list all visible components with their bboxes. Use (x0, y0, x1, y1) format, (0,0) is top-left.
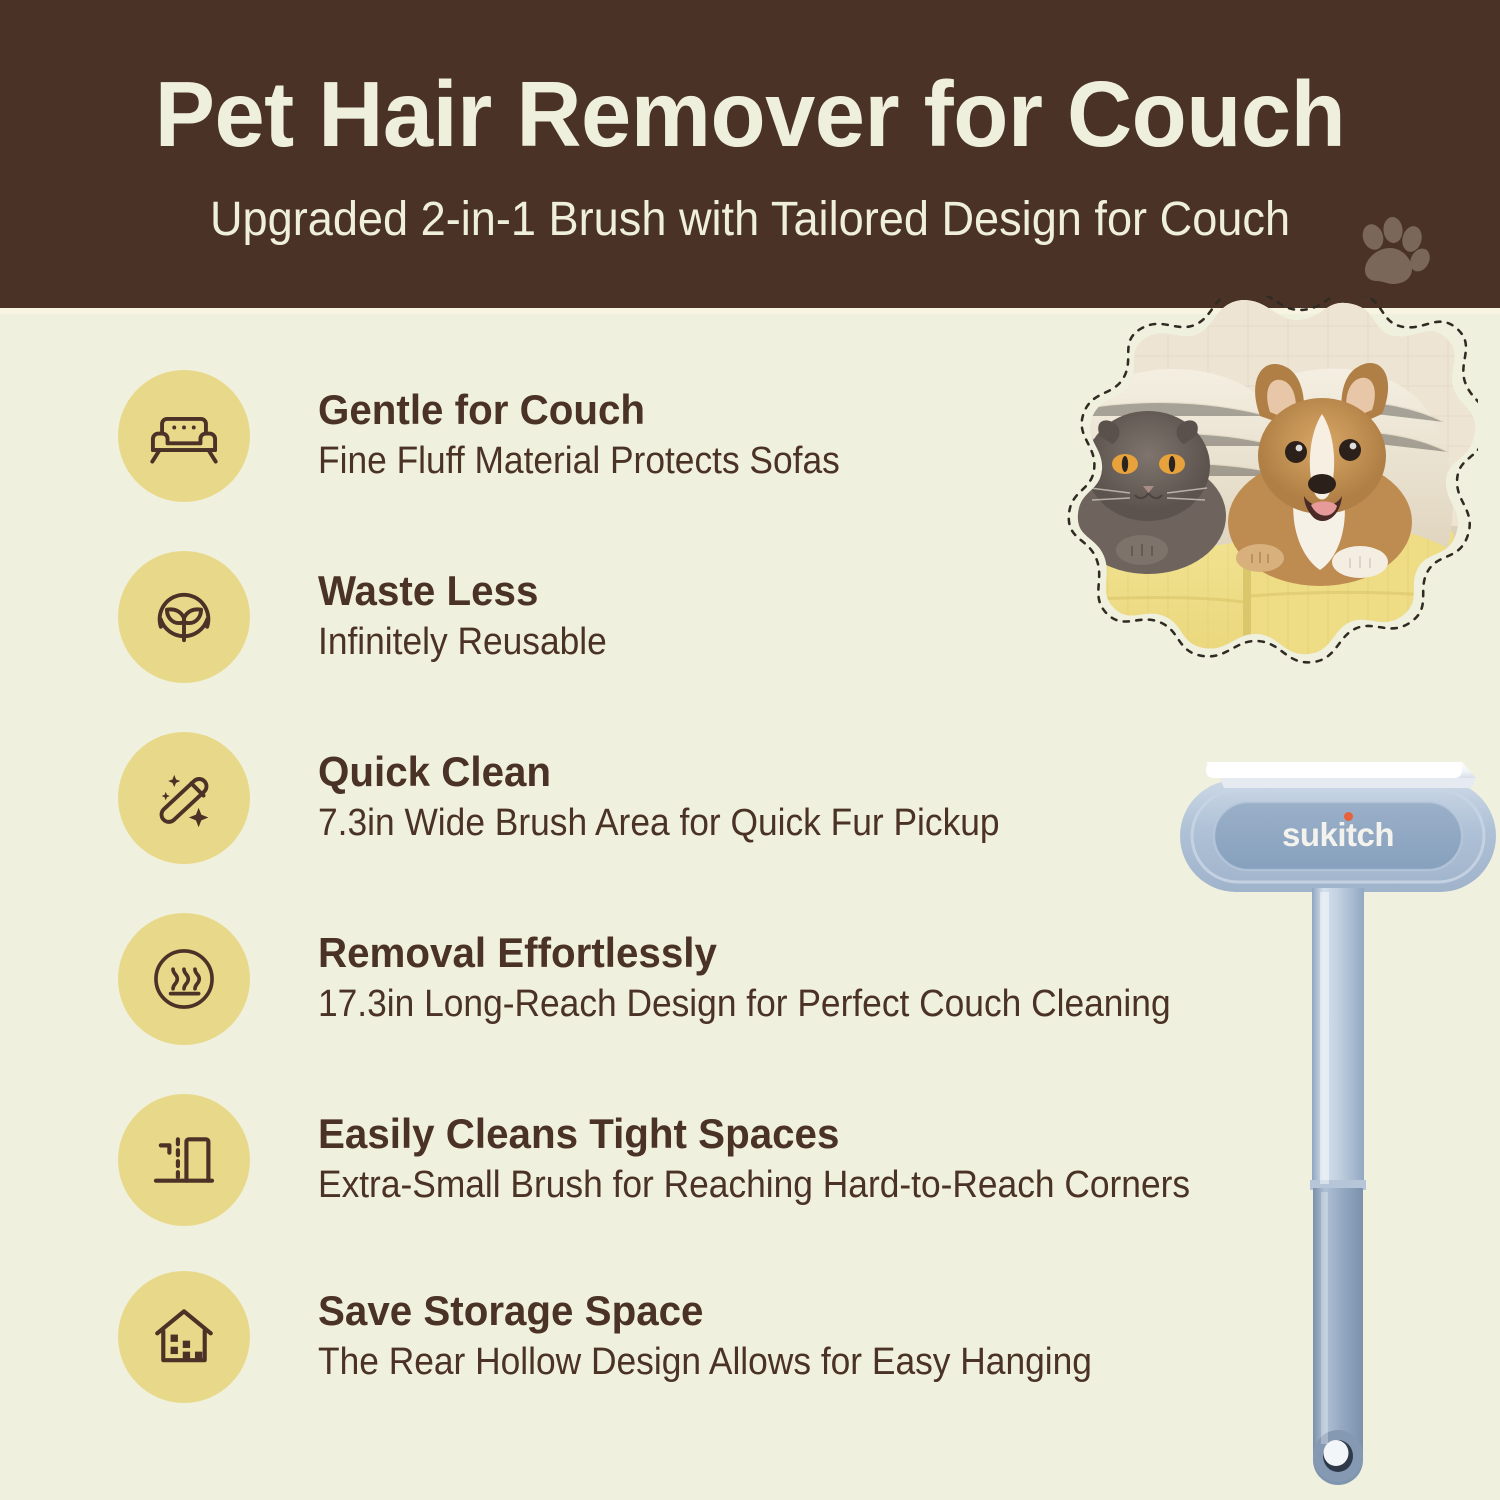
steam-lines-icon (118, 913, 250, 1045)
feature-description: 7.3in Wide Brush Area for Quick Fur Pick… (318, 801, 1248, 846)
feature-item-easily-cleans-tight-spaces: Easily Cleans Tight Spaces Extra-Small B… (118, 1094, 1318, 1226)
couch-icon (118, 370, 250, 502)
feature-heading: Save Storage Space (318, 1289, 1278, 1334)
feature-heading: Quick Clean (318, 750, 1278, 795)
sprout-leaf-icon (118, 551, 250, 683)
house-icon (118, 1271, 250, 1403)
feature-text: Easily Cleans Tight Spaces Extra-Small B… (250, 1112, 1318, 1207)
header-band: Pet Hair Remover for Couch Upgraded 2-in… (0, 0, 1500, 308)
feature-text: Save Storage Space The Rear Hollow Desig… (250, 1289, 1318, 1384)
paw-print-icon (1354, 214, 1430, 288)
page-subtitle: Upgraded 2-in-1 Brush with Tailored Desi… (45, 196, 1455, 244)
feature-heading: Removal Effortlessly (318, 931, 1278, 976)
product-infographic: Pet Hair Remover for Couch Upgraded 2-in… (0, 0, 1500, 1500)
feature-heading: Easily Cleans Tight Spaces (318, 1112, 1278, 1157)
pet-photo (1008, 296, 1478, 714)
feature-text: Quick Clean 7.3in Wide Brush Area for Qu… (250, 750, 1318, 845)
feature-text: Removal Effortlessly 17.3in Long-Reach D… (250, 931, 1318, 1026)
feature-item-removal-effortlessly: Removal Effortlessly 17.3in Long-Reach D… (118, 913, 1318, 1045)
brand-accent-dot (1344, 812, 1353, 821)
feature-item-quick-clean: Quick Clean 7.3in Wide Brush Area for Qu… (118, 732, 1318, 864)
narrow-gap-icon (118, 1094, 250, 1226)
feature-item-save-storage-space: Save Storage Space The Rear Hollow Desig… (118, 1271, 1318, 1403)
product-image: sukitch (1176, 756, 1500, 1496)
page-title: Pet Hair Remover for Couch (23, 68, 1478, 161)
feature-description: The Rear Hollow Design Allows for Easy H… (318, 1340, 1248, 1385)
magic-wand-icon (118, 732, 250, 864)
feature-description: Extra-Small Brush for Reaching Hard-to-R… (318, 1163, 1248, 1208)
feature-description: 17.3in Long-Reach Design for Perfect Cou… (318, 982, 1248, 1027)
